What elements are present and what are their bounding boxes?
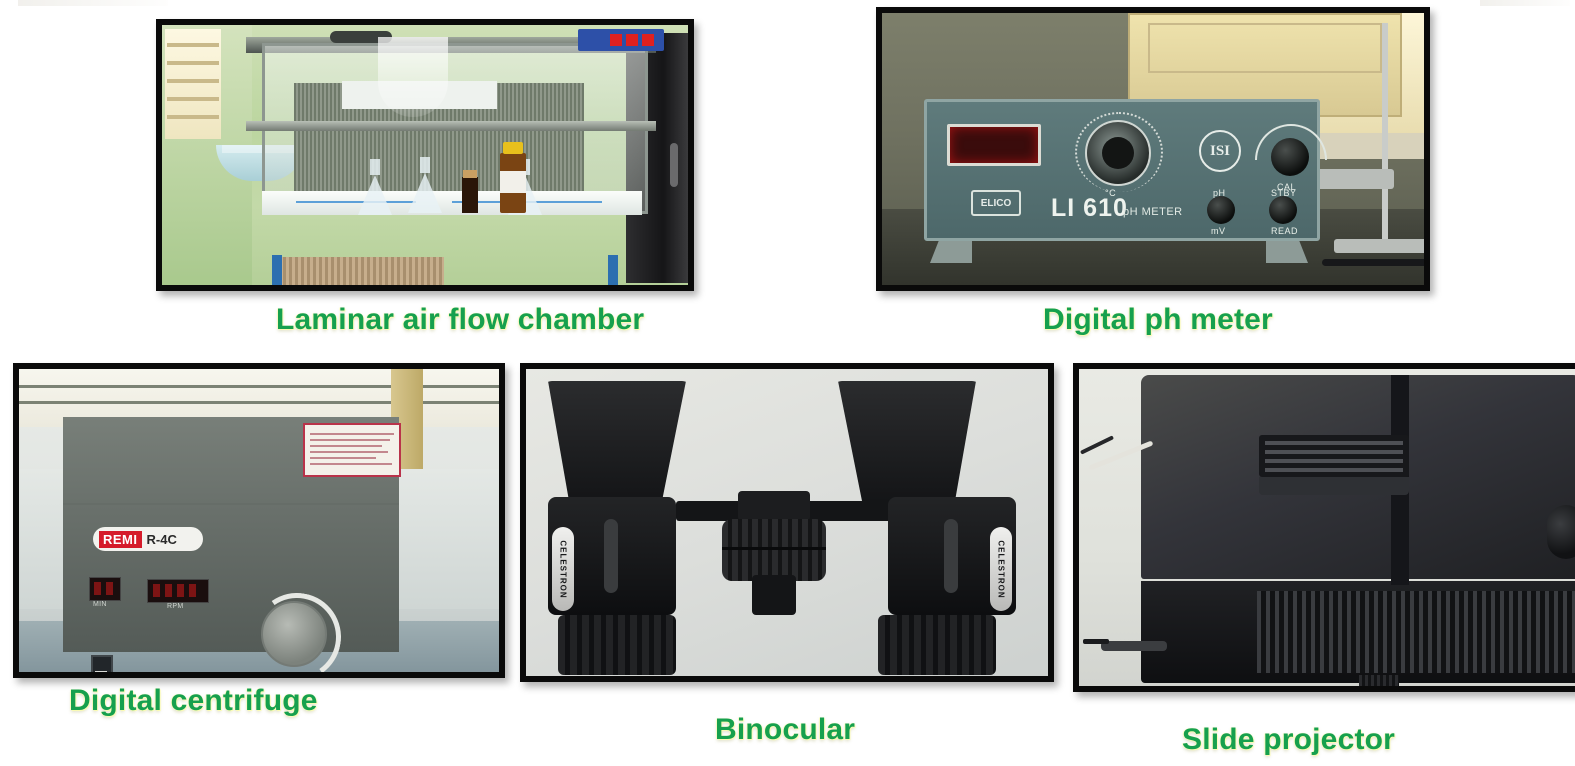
ph-meter-body: °C ISI CAL pH mV STBY READ ELICO LI 610 …: [924, 99, 1320, 241]
focus-knob[interactable]: [1547, 505, 1575, 559]
ph-meter-scene: °C ISI CAL pH mV STBY READ ELICO LI 610 …: [882, 13, 1424, 285]
center-hinge: [738, 491, 810, 521]
objective-lens-left: [558, 615, 676, 675]
brand-name: CELESTRON: [997, 540, 1006, 598]
window-wire: [19, 401, 499, 404]
window-wire: [19, 385, 499, 388]
barrel-left: CELESTRON: [548, 497, 676, 615]
photo-digital-ph-meter[interactable]: °C ISI CAL pH mV STBY READ ELICO LI 610 …: [876, 7, 1430, 291]
control-panel: REMI R-4C MIN RPM MAINS: [63, 505, 399, 652]
control-display-panel: [578, 29, 664, 51]
led-display: [947, 124, 1041, 166]
mains-rocker-switch[interactable]: [91, 655, 113, 672]
vent-lip: [1259, 477, 1409, 495]
rpm-display: [147, 579, 209, 603]
top-edge-artifact-right: [1480, 0, 1570, 6]
caption-slide-projector: Slide projector: [1182, 723, 1395, 757]
photo-slide-projector[interactable]: [1073, 363, 1575, 692]
model-label: LI 610: [1051, 194, 1128, 223]
brand-badge: REMI R-4C: [93, 527, 203, 551]
cal-knob[interactable]: [1271, 138, 1309, 176]
power-cable: [1322, 259, 1424, 266]
timer-display: [89, 577, 121, 601]
binocular-scene: CELESTRON CELESTRON: [526, 369, 1048, 676]
caption-digital-ph-meter: Digital ph meter: [1043, 303, 1273, 337]
cable-connector: [1101, 641, 1167, 651]
brand-badge-right: CELESTRON: [990, 527, 1012, 611]
ventilation-louvres: [1259, 435, 1409, 477]
rpm-label: RPM: [167, 603, 183, 610]
brand-logo: ELICO: [971, 190, 1021, 216]
electrode-clamp: [1314, 169, 1394, 189]
projector-foot: [1359, 675, 1399, 686]
caption-binocular: Binocular: [715, 713, 855, 747]
slide-projector-scene: [1079, 369, 1575, 686]
diopter-stem: [752, 575, 796, 615]
model-name: R-4C: [147, 532, 177, 547]
slide-canvas: Laminar air flow chamber °C: [0, 0, 1575, 766]
cable-tip: [1083, 639, 1109, 644]
centrifuge-body: REMI R-4C MIN RPM MAINS: [63, 417, 399, 652]
brand-name: CELESTRON: [559, 540, 568, 598]
caption-digital-centrifuge: Digital centrifuge: [69, 684, 318, 718]
centrifuge-scene: REMI R-4C MIN RPM MAINS: [19, 369, 499, 672]
read-label: READ: [1271, 226, 1298, 236]
warning-label: [303, 423, 401, 477]
grip-ridge-right: [944, 519, 958, 593]
speed-knob[interactable]: [261, 601, 327, 667]
mv-label: mV: [1211, 226, 1226, 236]
barrel-right: CELESTRON: [888, 497, 1016, 615]
photo-digital-centrifuge[interactable]: REMI R-4C MIN RPM MAINS: [13, 363, 505, 678]
isi-mark-icon: ISI: [1199, 130, 1241, 172]
retort-stand-rod: [1382, 23, 1388, 245]
objective-lens-right: [878, 615, 996, 675]
grip-ridge-left: [604, 519, 618, 593]
focus-wheel[interactable]: [722, 519, 826, 581]
ph-label: pH: [1213, 188, 1226, 198]
temperature-dial[interactable]: [1085, 120, 1151, 186]
stand-base: [1334, 239, 1424, 253]
equipment-card-slide-projector: Slide projector: [0, 0, 520, 329]
brand-name: REMI: [99, 531, 142, 548]
instrument-type-label: pH METER: [1123, 206, 1183, 218]
stby-label: STBY: [1271, 188, 1297, 198]
stby-read-knob[interactable]: [1269, 196, 1297, 224]
timer-label: MIN: [93, 601, 107, 608]
cooling-fins: [1257, 591, 1575, 673]
brand-badge-left: CELESTRON: [552, 527, 574, 611]
photo-binocular[interactable]: CELESTRON CELESTRON: [520, 363, 1054, 682]
ph-mv-knob[interactable]: [1207, 196, 1235, 224]
